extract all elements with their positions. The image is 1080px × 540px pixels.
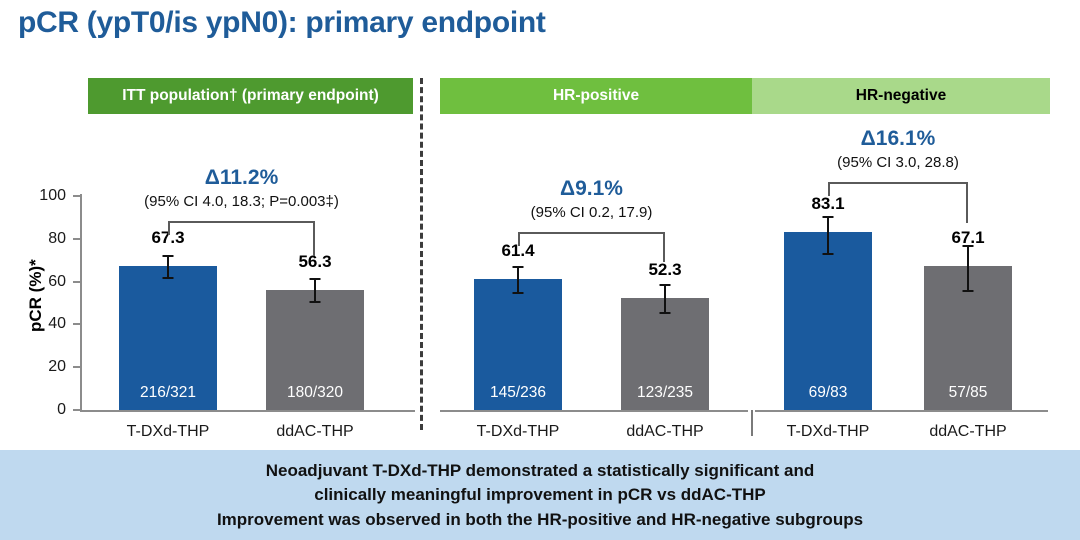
error-bar-cap-bottom: [963, 290, 974, 292]
y-axis-tick-label: 20: [32, 358, 66, 376]
x-axis-tick-label: ddAC-THP: [929, 423, 1006, 441]
bar-n-fraction: 57/85: [949, 384, 988, 402]
x-axis-tick-label: T-DXd-THP: [127, 423, 210, 441]
y-axis-tick: [73, 281, 80, 283]
error-bar-line: [517, 266, 519, 293]
delta-confidence-interval: (95% CI 4.0, 18.3; P=0.003‡): [144, 193, 339, 210]
conclusion-line-1: Neoadjuvant T-DXd-THP demonstrated a sta…: [266, 460, 815, 481]
y-axis-tick: [73, 238, 80, 240]
delta-confidence-interval: (95% CI 3.0, 28.8): [837, 154, 959, 171]
y-axis-tick: [73, 323, 80, 325]
y-axis-tick: [73, 366, 80, 368]
y-axis-tick-label: 80: [32, 230, 66, 248]
error-bar-cap-bottom: [513, 292, 524, 294]
error-bar-cap-top: [823, 216, 834, 218]
delta-bracket-leg-right: [313, 221, 315, 256]
x-axis-tick-label: ddAC-THP: [626, 423, 703, 441]
delta-bracket-rail: [518, 232, 665, 234]
error-bar-cap-bottom: [660, 312, 671, 314]
error-bar-cap-bottom: [163, 277, 174, 279]
delta-value: Δ16.1%: [861, 127, 936, 151]
error-bar-cap-bottom: [823, 253, 834, 255]
bar-value-label: 56.3: [298, 252, 331, 272]
x-axis-line: [440, 410, 748, 412]
y-axis-tick: [73, 409, 80, 411]
conclusion-banner: Neoadjuvant T-DXd-THP demonstrated a sta…: [0, 450, 1080, 540]
delta-bracket-rail: [168, 221, 315, 223]
error-bar-cap-top: [310, 278, 321, 280]
y-axis-title: pCR (%)*: [26, 259, 46, 332]
bar-value-label: 52.3: [648, 260, 681, 280]
error-bar-line: [827, 216, 829, 253]
delta-bracket-leg-left: [168, 221, 170, 235]
delta-bracket-leg-left: [518, 232, 520, 246]
delta-value: Δ9.1%: [560, 177, 623, 201]
error-bar-cap-top: [163, 255, 174, 257]
bar-n-fraction: 145/236: [490, 384, 546, 402]
y-axis-tick-label: 100: [32, 187, 66, 205]
y-axis-tick: [73, 195, 80, 197]
conclusion-line-3: Improvement was observed in both the HR-…: [217, 509, 863, 530]
x-axis-tick-label: T-DXd-THP: [787, 423, 870, 441]
delta-bracket-leg-left: [828, 182, 830, 196]
slide-root: pCR (ypT0/is ypN0): primary endpoint ITT…: [0, 0, 1080, 540]
delta-bracket-leg-right: [966, 182, 968, 223]
delta-bracket-leg-right: [663, 232, 665, 263]
bar-n-fraction: 123/235: [637, 384, 693, 402]
y-axis-line: [80, 194, 82, 412]
x-axis-tick-label: T-DXd-THP: [477, 423, 560, 441]
x-axis-line: [80, 410, 415, 412]
y-axis-tick-label: 0: [32, 401, 66, 419]
bar-n-fraction: 69/83: [809, 384, 848, 402]
delta-bracket: [168, 221, 315, 222]
conclusion-line-2: clinically meaningful improvement in pCR…: [314, 484, 766, 505]
delta-value: Δ11.2%: [205, 166, 278, 190]
x-axis-tick-label: ddAC-THP: [276, 423, 353, 441]
error-bar-line: [167, 255, 169, 277]
delta-confidence-interval: (95% CI 0.2, 17.9): [531, 204, 653, 221]
delta-bracket: [828, 182, 968, 183]
bar-value-label: 83.1: [811, 194, 844, 214]
error-bar-cap-bottom: [310, 301, 321, 303]
delta-bracket: [518, 232, 665, 233]
delta-bracket-rail: [828, 182, 968, 184]
error-bar-line: [314, 278, 316, 301]
error-bar-line: [967, 245, 969, 290]
bar-n-fraction: 216/321: [140, 384, 196, 402]
error-bar-cap-top: [963, 245, 974, 247]
x-axis-line: [755, 410, 1048, 412]
error-bar-line: [664, 284, 666, 312]
bar-n-fraction: 180/320: [287, 384, 343, 402]
error-bar-cap-top: [513, 266, 524, 268]
error-bar-cap-top: [660, 284, 671, 286]
